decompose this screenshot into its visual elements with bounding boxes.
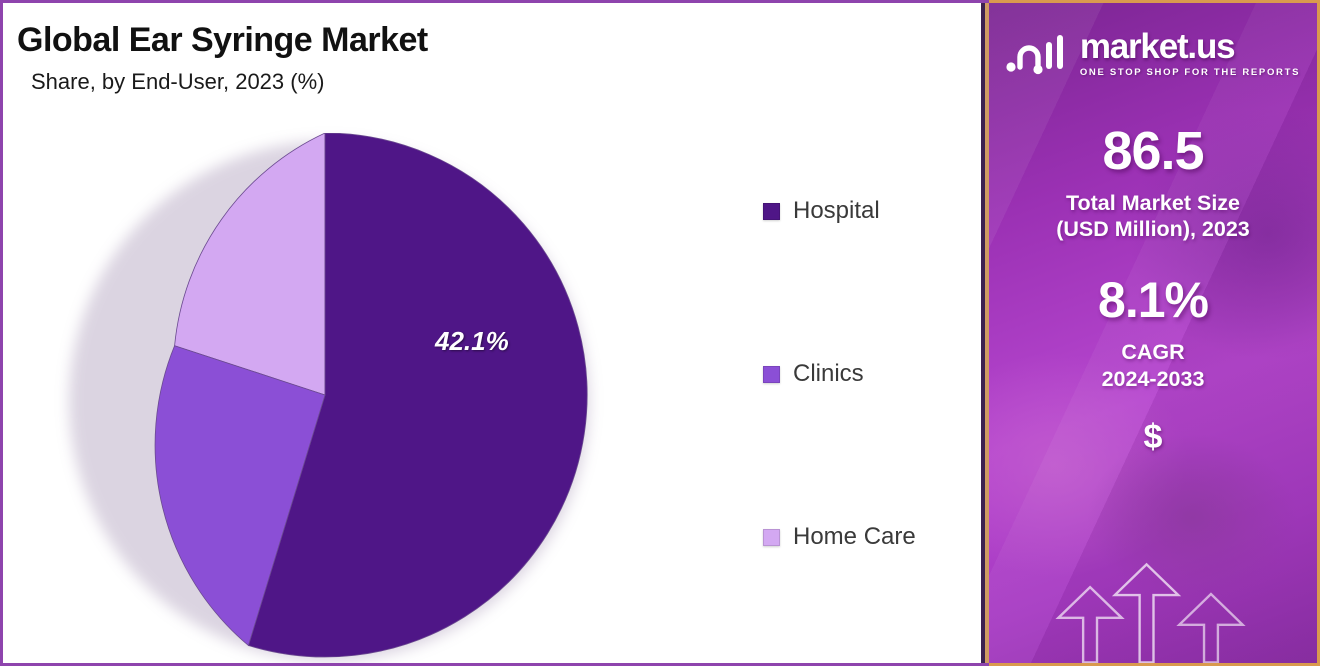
stats-panel: market.us ONE STOP SHOP FOR THE REPORTS … <box>989 0 1320 666</box>
market-size-caption-line1: Total Market Size <box>1056 190 1250 216</box>
market-size-value: 86.5 <box>1102 124 1203 178</box>
market-size-caption: Total Market Size (USD Million), 2023 <box>1056 190 1250 242</box>
cagr-caption: CAGR 2024-2033 <box>1102 339 1205 391</box>
legend-item-home-care[interactable]: Home Care <box>763 514 973 560</box>
legend-label: Hospital <box>793 197 880 225</box>
pie-svg <box>63 133 588 658</box>
legend-label: Home Care <box>793 523 916 551</box>
growth-arrows-icon <box>989 543 1317 663</box>
legend-item-hospital[interactable]: Hospital <box>763 188 973 234</box>
market-logo-icon <box>1006 33 1070 75</box>
cagr-caption-line1: CAGR <box>1102 339 1205 365</box>
market-size-caption-line2: (USD Million), 2023 <box>1056 216 1250 242</box>
logo-wordmark: market.us <box>1080 29 1235 64</box>
legend-label: Clinics <box>793 360 864 388</box>
legend-swatch-icon <box>763 203 780 220</box>
cagr-value: 8.1% <box>1098 275 1208 325</box>
page-title: Global Ear Syringe Market <box>17 23 428 59</box>
legend-item-clinics[interactable]: Clinics <box>763 351 973 397</box>
legend: Hospital Clinics Home Care <box>763 188 973 560</box>
chart-subtitle: Share, by End-User, 2023 (%) <box>31 69 428 95</box>
infographic-root: Global Ear Syringe Market Share, by End-… <box>0 0 1320 666</box>
cagr-caption-line2: 2024-2033 <box>1102 366 1205 392</box>
legend-swatch-icon <box>763 366 780 383</box>
legend-swatch-icon <box>763 529 780 546</box>
pie-chart: 42.1% <box>63 133 588 658</box>
title-block: Global Ear Syringe Market Share, by End-… <box>17 23 428 95</box>
dollar-icon: $ <box>1144 420 1163 454</box>
panel-divider <box>981 3 989 666</box>
logo-text: market.us ONE STOP SHOP FOR THE REPORTS <box>1080 29 1300 78</box>
logo-tagline: ONE STOP SHOP FOR THE REPORTS <box>1080 67 1300 78</box>
pie-slice-label-hospital: 42.1% <box>435 326 509 357</box>
chart-panel: Global Ear Syringe Market Share, by End-… <box>0 0 989 666</box>
brand-logo[interactable]: market.us ONE STOP SHOP FOR THE REPORTS <box>1006 29 1300 78</box>
